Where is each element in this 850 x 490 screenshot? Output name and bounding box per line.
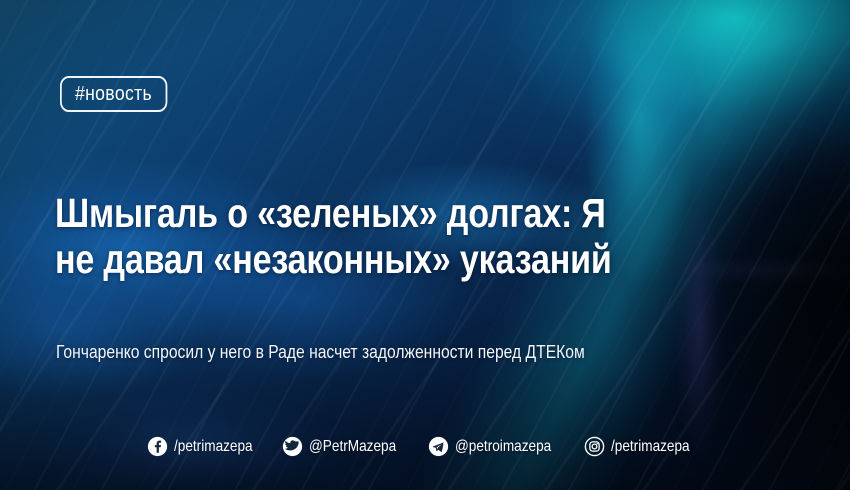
news-tag-badge[interactable]: #новость xyxy=(60,76,167,112)
subtitle: Гончаренко спросил у него в Раде насчет … xyxy=(56,341,717,363)
instagram-handle: /petrimazepa xyxy=(611,438,690,456)
news-card: #новость Шмыгаль о «зеленых» долгах: Я н… xyxy=(0,0,850,490)
social-link-telegram[interactable]: @petroimazepa xyxy=(428,436,568,457)
instagram-icon xyxy=(584,436,605,457)
twitter-handle: @PetrMazepa xyxy=(309,438,396,456)
social-link-twitter[interactable]: @PetrMazepa xyxy=(282,436,412,457)
headline: Шмыгаль о «зеленых» долгах: Я не давал «… xyxy=(55,190,636,282)
telegram-handle: @petroimazepa xyxy=(455,438,551,456)
facebook-handle: /petrimazepa xyxy=(174,438,253,456)
news-tag-label: #новость xyxy=(75,83,152,106)
telegram-icon xyxy=(428,436,449,457)
social-links-bar: /petrimazepa @PetrMazepa @petroimazepa xyxy=(0,436,850,457)
social-link-facebook[interactable]: /petrimazepa xyxy=(147,436,267,457)
facebook-icon xyxy=(147,436,168,457)
social-link-instagram[interactable]: /petrimazepa xyxy=(584,436,704,457)
twitter-icon xyxy=(282,436,303,457)
